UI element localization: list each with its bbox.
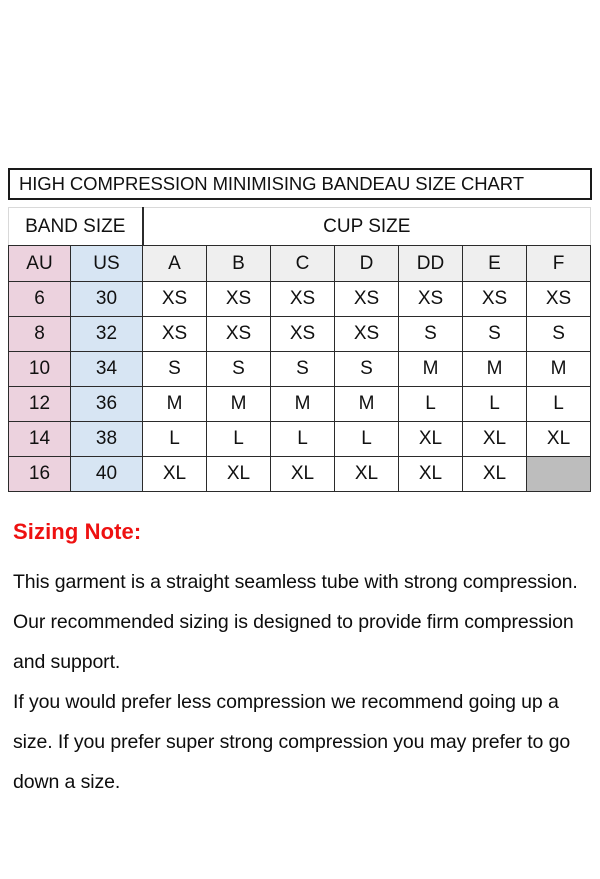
table-row: 12 36 M M M M L L L [9,387,591,422]
cell-size: XL [399,422,463,457]
cell-size: XS [207,317,271,352]
table-column-header-row: AU US A B C D DD E F [9,246,591,282]
cell-au: 8 [9,317,71,352]
cell-size: XS [143,317,207,352]
size-chart-table: BAND SIZE CUP SIZE AU US A B C D DD E F … [8,207,591,492]
cell-size: L [527,387,591,422]
cell-size: XL [463,422,527,457]
cell-size-unavailable [527,457,591,492]
cell-size: XL [143,457,207,492]
cell-size: XS [463,282,527,317]
cell-size: S [271,352,335,387]
cell-size: L [143,422,207,457]
cell-size: M [207,387,271,422]
cell-size: L [463,387,527,422]
column-header-us: US [71,246,143,282]
cell-size: XS [143,282,207,317]
sizing-note-paragraph-1: This garment is a straight seamless tube… [13,562,591,682]
cell-us: 36 [71,387,143,422]
cell-size: S [143,352,207,387]
page-title: HIGH COMPRESSION MINIMISING BANDEAU SIZE… [10,173,524,195]
column-header-cup-f: F [527,246,591,282]
cell-us: 40 [71,457,143,492]
cell-us: 38 [71,422,143,457]
cell-au: 12 [9,387,71,422]
table-row: 16 40 XL XL XL XL XL XL [9,457,591,492]
column-header-cup-e: E [463,246,527,282]
table-row: 10 34 S S S S M M M [9,352,591,387]
cell-au: 6 [9,282,71,317]
cell-size: S [335,352,399,387]
cell-us: 34 [71,352,143,387]
cell-size: XS [271,317,335,352]
cell-size: L [271,422,335,457]
group-header-cup-size: CUP SIZE [143,208,591,246]
cell-size: XS [335,282,399,317]
cell-size: S [399,317,463,352]
column-header-cup-d: D [335,246,399,282]
cell-au: 14 [9,422,71,457]
column-header-au: AU [9,246,71,282]
sizing-note-section: Sizing Note: This garment is a straight … [13,519,591,802]
cell-size: XS [271,282,335,317]
column-header-cup-b: B [207,246,271,282]
cell-au: 16 [9,457,71,492]
column-header-cup-dd: DD [399,246,463,282]
cell-us: 32 [71,317,143,352]
column-header-cup-c: C [271,246,335,282]
group-header-band-size: BAND SIZE [9,208,143,246]
cell-size: S [207,352,271,387]
cell-size: L [335,422,399,457]
table-row: 14 38 L L L L XL XL XL [9,422,591,457]
sizing-note-paragraph-2: If you would prefer less compression we … [13,682,591,802]
cell-size: M [399,352,463,387]
cell-size: L [399,387,463,422]
cell-size: S [463,317,527,352]
cell-au: 10 [9,352,71,387]
table-row: 6 30 XS XS XS XS XS XS XS [9,282,591,317]
cell-size: XL [399,457,463,492]
chart-title-box: HIGH COMPRESSION MINIMISING BANDEAU SIZE… [8,168,592,200]
table-group-header-row: BAND SIZE CUP SIZE [9,208,591,246]
cell-size: M [271,387,335,422]
cell-size: XL [463,457,527,492]
cell-size: S [527,317,591,352]
cell-size: XS [399,282,463,317]
cell-size: XS [335,317,399,352]
cell-size: XL [527,422,591,457]
cell-size: XL [207,457,271,492]
table-row: 8 32 XS XS XS XS S S S [9,317,591,352]
cell-size: XS [207,282,271,317]
cell-size: M [463,352,527,387]
cell-size: XS [527,282,591,317]
sizing-note-heading: Sizing Note: [13,519,591,545]
cell-us: 30 [71,282,143,317]
cell-size: XL [271,457,335,492]
column-header-cup-a: A [143,246,207,282]
cell-size: M [335,387,399,422]
cell-size: M [143,387,207,422]
cell-size: M [527,352,591,387]
cell-size: L [207,422,271,457]
cell-size: XL [335,457,399,492]
